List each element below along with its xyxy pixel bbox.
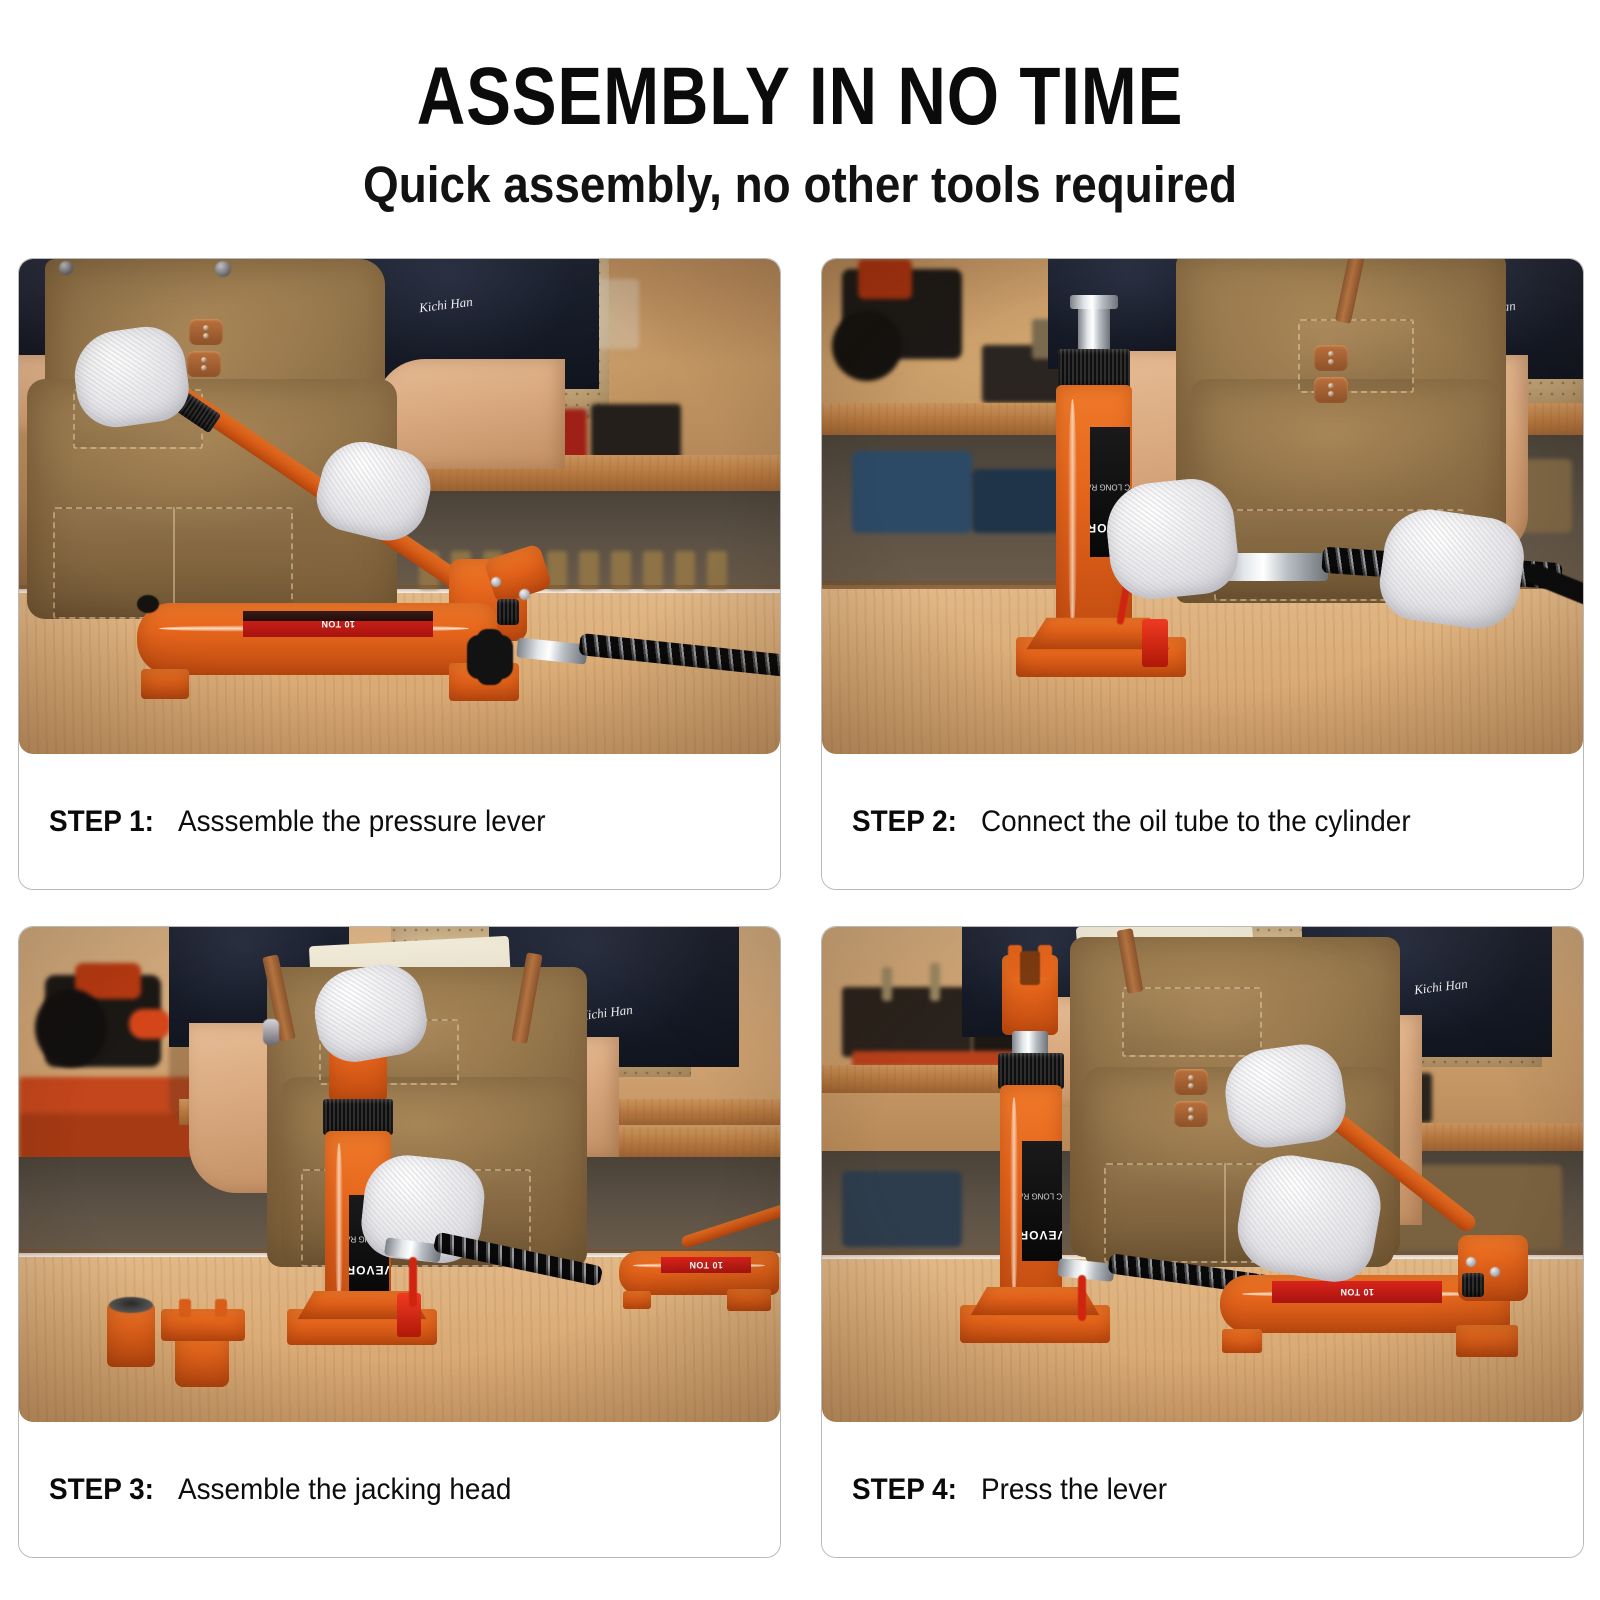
step-1-photo: Kichi Han [19,259,780,754]
step-4-text: Press the lever [981,1473,1167,1507]
step-card-4: Kichi Han キ ヘ リ [821,926,1584,1558]
step-2-label: STEP 2: [852,805,957,839]
step-1-caption: STEP 1: Asssemble the pressure lever [19,754,780,889]
step-card-2: Kichi Han [821,258,1584,890]
step-3-label: STEP 3: [49,1473,154,1507]
cylinder-collar [1058,349,1130,389]
header: ASSEMBLY IN NO TIME Quick assembly, no o… [0,0,1600,211]
step-card-1: Kichi Han [18,258,781,890]
step-4-label: STEP 4: [852,1473,957,1507]
step-3-text: Assemble the jacking head [178,1473,511,1507]
glove-left [1102,475,1241,604]
step-1-text: Asssemble the pressure lever [178,805,546,839]
page-subtitle: Quick assembly, no other tools required [80,158,1520,212]
step-2-photo: Kichi Han [822,259,1583,754]
steps-grid: Kichi Han [18,258,1584,1578]
step-3-photo: Kichi Han キ ロ ヘ リ [19,927,780,1422]
dust-cap [1142,619,1168,667]
pump-label: 10 TON [1272,1281,1442,1303]
cylinder-collar [323,1099,393,1135]
step-3-caption: STEP 3: Assemble the jacking head [19,1422,780,1557]
glove-right [1375,504,1529,634]
step-4-photo: Kichi Han キ ヘ リ [822,927,1583,1422]
step-2-caption: STEP 2: Connect the oil tube to the cyli… [822,754,1583,889]
infographic-page: ASSEMBLY IN NO TIME Quick assembly, no o… [0,0,1600,1600]
cylinder-collar [998,1053,1064,1089]
page-title: ASSEMBLY IN NO TIME [144,58,1456,136]
step-2-text: Connect the oil tube to the cylinder [981,805,1411,839]
step-1-label: STEP 1: [49,805,154,839]
step-card-3: Kichi Han キ ロ ヘ リ [18,926,781,1558]
step-4-caption: STEP 4: Press the lever [822,1422,1583,1557]
